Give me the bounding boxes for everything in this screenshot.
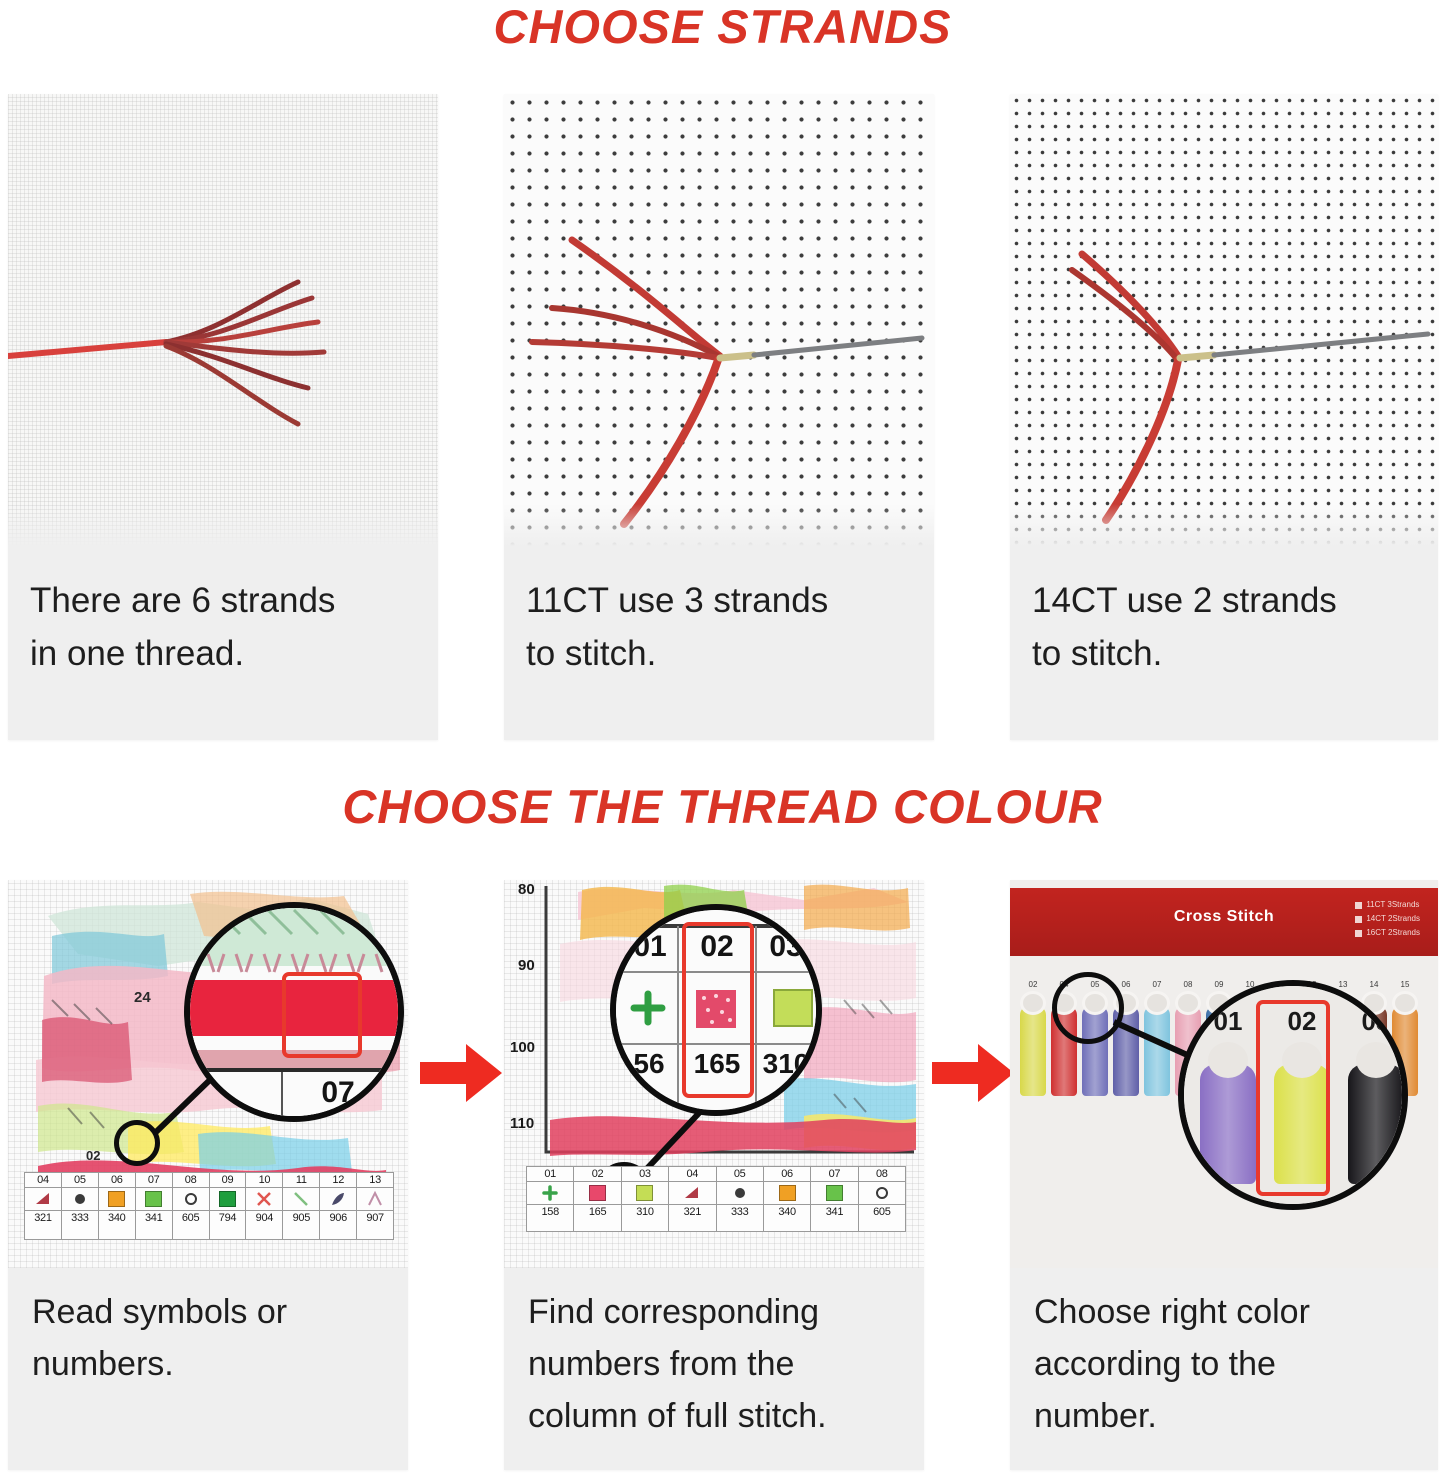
legend-column[interactable]: 02165 (574, 1167, 621, 1231)
legend-dmc-code: 341 (136, 1210, 172, 1225)
legend-number: 02 (574, 1167, 620, 1182)
legend-symbol-square-green (136, 1188, 172, 1210)
legend-column[interactable]: 11905 (283, 1173, 320, 1239)
legend-symbol-slash (283, 1188, 319, 1210)
legend-number: 05 (717, 1167, 763, 1182)
legend-column[interactable]: 05333 (62, 1173, 99, 1239)
legend-column[interactable]: 08605 (173, 1173, 210, 1239)
legend-dmc-code: 907 (357, 1210, 393, 1225)
legend-symbol-triangle (669, 1182, 715, 1204)
legend-number: 07 (136, 1173, 172, 1188)
legend-number: 05 (62, 1173, 98, 1188)
caption-text: Find corresponding numbers from the colu… (528, 1286, 904, 1442)
pattern-chart-photo: 80 90 100 110 (504, 880, 924, 1268)
strand-card-caption: 14CT use 2 strands to stitch. (1010, 546, 1438, 740)
caption-text: Read symbols or numbers. (32, 1286, 388, 1390)
legend-symbol-dot (62, 1188, 98, 1210)
legend-dmc-code: 794 (210, 1210, 246, 1225)
legend-symbol-square-orange (764, 1182, 810, 1204)
legend-dmc-code: 165 (574, 1204, 620, 1219)
colour-card-caption: Read symbols or numbers. (8, 1268, 408, 1470)
zoom-cell-number: 07 (308, 1076, 368, 1110)
caption-text: Choose right color according to the numb… (1034, 1286, 1418, 1442)
legend-column[interactable]: 06340 (99, 1173, 136, 1239)
page-title-choose-strands: CHOOSE STRANDS (0, 2, 1445, 52)
strand-card-caption: There are 6 strands in one thread. (8, 546, 438, 740)
legend-symbol-triangle (25, 1188, 61, 1210)
magnifier-lens: 010203 (1178, 980, 1408, 1210)
colour-card-caption: Find corresponding numbers from the colu… (504, 1268, 924, 1470)
legend-number: 08 (173, 1173, 209, 1188)
strand-card-caption: 11CT use 3 strands to stitch. (504, 546, 934, 740)
colour-card-caption: Choose right color according to the numb… (1010, 1268, 1438, 1470)
legend-column[interactable]: 04321 (669, 1167, 716, 1231)
legend-symbol-leaf (320, 1188, 356, 1210)
legend-dmc-code: 321 (25, 1210, 61, 1225)
legend-dmc-code: 904 (246, 1210, 282, 1225)
page-title-choose-thread-colour: CHOOSE THE THREAD COLOUR (0, 782, 1445, 832)
aida-14ct-photo (1010, 94, 1438, 546)
caption-text: 14CT use 2 strands to stitch. (1032, 574, 1416, 680)
legend-symbol-square-darkgreen (210, 1188, 246, 1210)
legend-column[interactable]: 07341 (136, 1173, 173, 1239)
legend-dmc-code: 340 (99, 1210, 135, 1225)
photo-fade (504, 504, 934, 546)
thread-card-photo: Cross Stitch 11CT 3Strands14CT 2Strands1… (1010, 880, 1438, 1268)
legend-column[interactable]: 01158 (527, 1167, 574, 1231)
thread-fan-photo (8, 94, 438, 546)
legend-dmc-code: 605 (173, 1210, 209, 1225)
legend-symbol-dot (717, 1182, 763, 1204)
legend-number: 03 (622, 1167, 668, 1182)
strand-card-11ct: 11CT use 3 strands to stitch. (504, 94, 934, 740)
caption-text: There are 6 strands in one thread. (30, 574, 416, 680)
photo-fade (8, 504, 438, 546)
legend-symbol-circle-open (859, 1182, 905, 1204)
zoom-highlight-box (1256, 1000, 1330, 1196)
zoom-skein-number-label: 03 (1348, 1006, 1404, 1037)
caption-text: 11CT use 3 strands to stitch. (526, 574, 912, 680)
legend-column[interactable]: 06340 (764, 1167, 811, 1231)
legend-number: 10 (246, 1173, 282, 1188)
legend-dmc-code: 158 (527, 1204, 573, 1219)
legend-column[interactable]: 13907 (357, 1173, 393, 1239)
legend-column[interactable]: 08605 (859, 1167, 905, 1231)
pattern-legend-table: 0115802165033100432105333063400734108605 (526, 1166, 906, 1232)
legend-dmc-code: 341 (811, 1204, 857, 1219)
legend-number: 13 (357, 1173, 393, 1188)
thread-fan-icon (8, 94, 438, 546)
legend-symbol-square-green (811, 1182, 857, 1204)
zoom-skein-peg-hole (1208, 1042, 1248, 1078)
needle-thread-icon (1010, 94, 1438, 546)
legend-symbol-cross (246, 1188, 282, 1210)
aida-11ct-photo (504, 94, 934, 546)
legend-symbol-square-pink (574, 1182, 620, 1204)
magnifier-lens: 07 (184, 902, 404, 1122)
legend-number: 04 (25, 1173, 61, 1188)
legend-column[interactable]: 07341 (811, 1167, 858, 1231)
legend-column[interactable]: 12906 (320, 1173, 357, 1239)
needle-thread-icon (504, 94, 934, 546)
legend-dmc-code: 333 (717, 1204, 763, 1219)
strand-card-six-strands: There are 6 strands in one thread. (8, 94, 438, 740)
legend-number: 06 (764, 1167, 810, 1182)
zoom-skein-peg-hole (1356, 1042, 1396, 1078)
legend-number: 01 (527, 1167, 573, 1182)
colour-card-read-symbols: 24 02 (8, 880, 408, 1470)
legend-symbol-square-orange (99, 1188, 135, 1210)
zoom-skein-floss (1200, 1064, 1256, 1184)
legend-column[interactable]: 03310 (622, 1167, 669, 1231)
legend-number: 04 (669, 1167, 715, 1182)
legend-number: 12 (320, 1173, 356, 1188)
photo-fade (1010, 504, 1438, 546)
zoom-skein-number-label: 01 (1200, 1006, 1256, 1037)
legend-column[interactable]: 04321 (25, 1173, 62, 1239)
pattern-legend-table: 0432105333063400734108605097941090411905… (24, 1172, 394, 1240)
legend-dmc-code: 906 (320, 1210, 356, 1225)
legend-column[interactable]: 09794 (210, 1173, 247, 1239)
legend-dmc-code: 340 (764, 1204, 810, 1219)
legend-number: 11 (283, 1173, 319, 1188)
zoom-skein-floss (1348, 1064, 1404, 1184)
legend-symbol-square-yellowgreen (622, 1182, 668, 1204)
legend-number: 07 (811, 1167, 857, 1182)
arrow-step-1-to-2 (418, 1042, 504, 1104)
legend-column[interactable]: 05333 (717, 1167, 764, 1231)
colour-card-find-numbers: 80 90 100 110 (504, 880, 924, 1470)
legend-number: 06 (99, 1173, 135, 1188)
legend-symbol-caret (357, 1188, 393, 1210)
strand-card-14ct: 14CT use 2 strands to stitch. (1010, 94, 1438, 740)
legend-column[interactable]: 10904 (246, 1173, 283, 1239)
arrow-step-2-to-3 (930, 1042, 1016, 1104)
legend-number: 09 (210, 1173, 246, 1188)
legend-dmc-code: 333 (62, 1210, 98, 1225)
zoom-highlight-box (282, 972, 362, 1058)
legend-dmc-code: 605 (859, 1204, 905, 1219)
legend-dmc-code: 310 (622, 1204, 668, 1219)
pattern-chart-photo: 24 02 (8, 880, 408, 1268)
colour-card-choose-colour: Cross Stitch 11CT 3Strands14CT 2Strands1… (1010, 880, 1438, 1470)
legend-symbol-circle-open (173, 1188, 209, 1210)
legend-symbol-plus-green (527, 1182, 573, 1204)
legend-number: 08 (859, 1167, 905, 1182)
legend-dmc-code: 905 (283, 1210, 319, 1225)
legend-dmc-code: 321 (669, 1204, 715, 1219)
